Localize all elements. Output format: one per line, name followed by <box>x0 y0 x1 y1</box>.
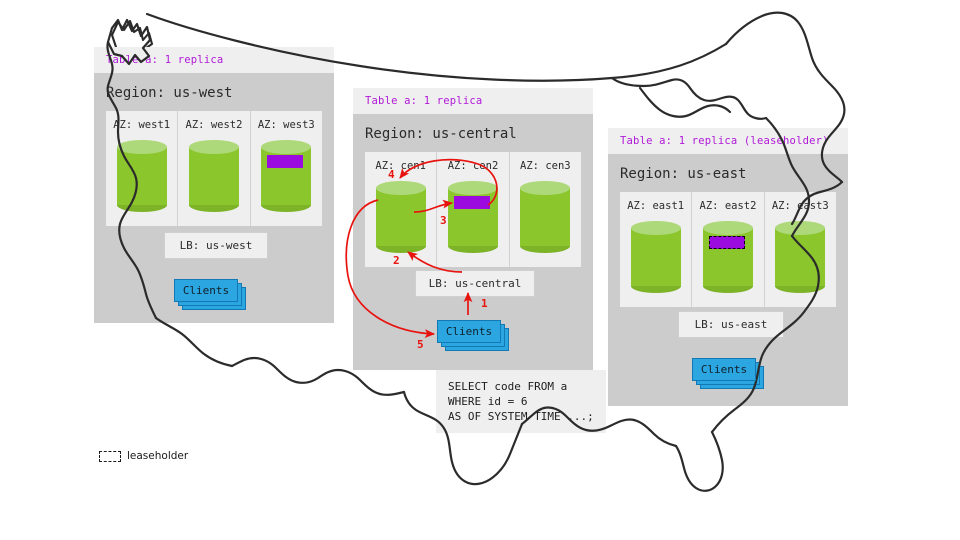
arrow-label-3: 3 <box>440 214 447 227</box>
arrow-label-2: 2 <box>393 254 400 267</box>
flow-arrows <box>0 0 960 540</box>
arrow-label-5: 5 <box>417 338 424 351</box>
arrow-label-4: 4 <box>388 168 395 181</box>
arrow-4 <box>400 160 497 205</box>
arrow-3 <box>414 203 452 212</box>
arrow-5 <box>346 200 434 334</box>
arrow-label-1: 1 <box>481 297 488 310</box>
arrow-2 <box>408 252 462 272</box>
diagram-canvas: Table a: 1 replica Region: us-west AZ: w… <box>0 0 960 540</box>
